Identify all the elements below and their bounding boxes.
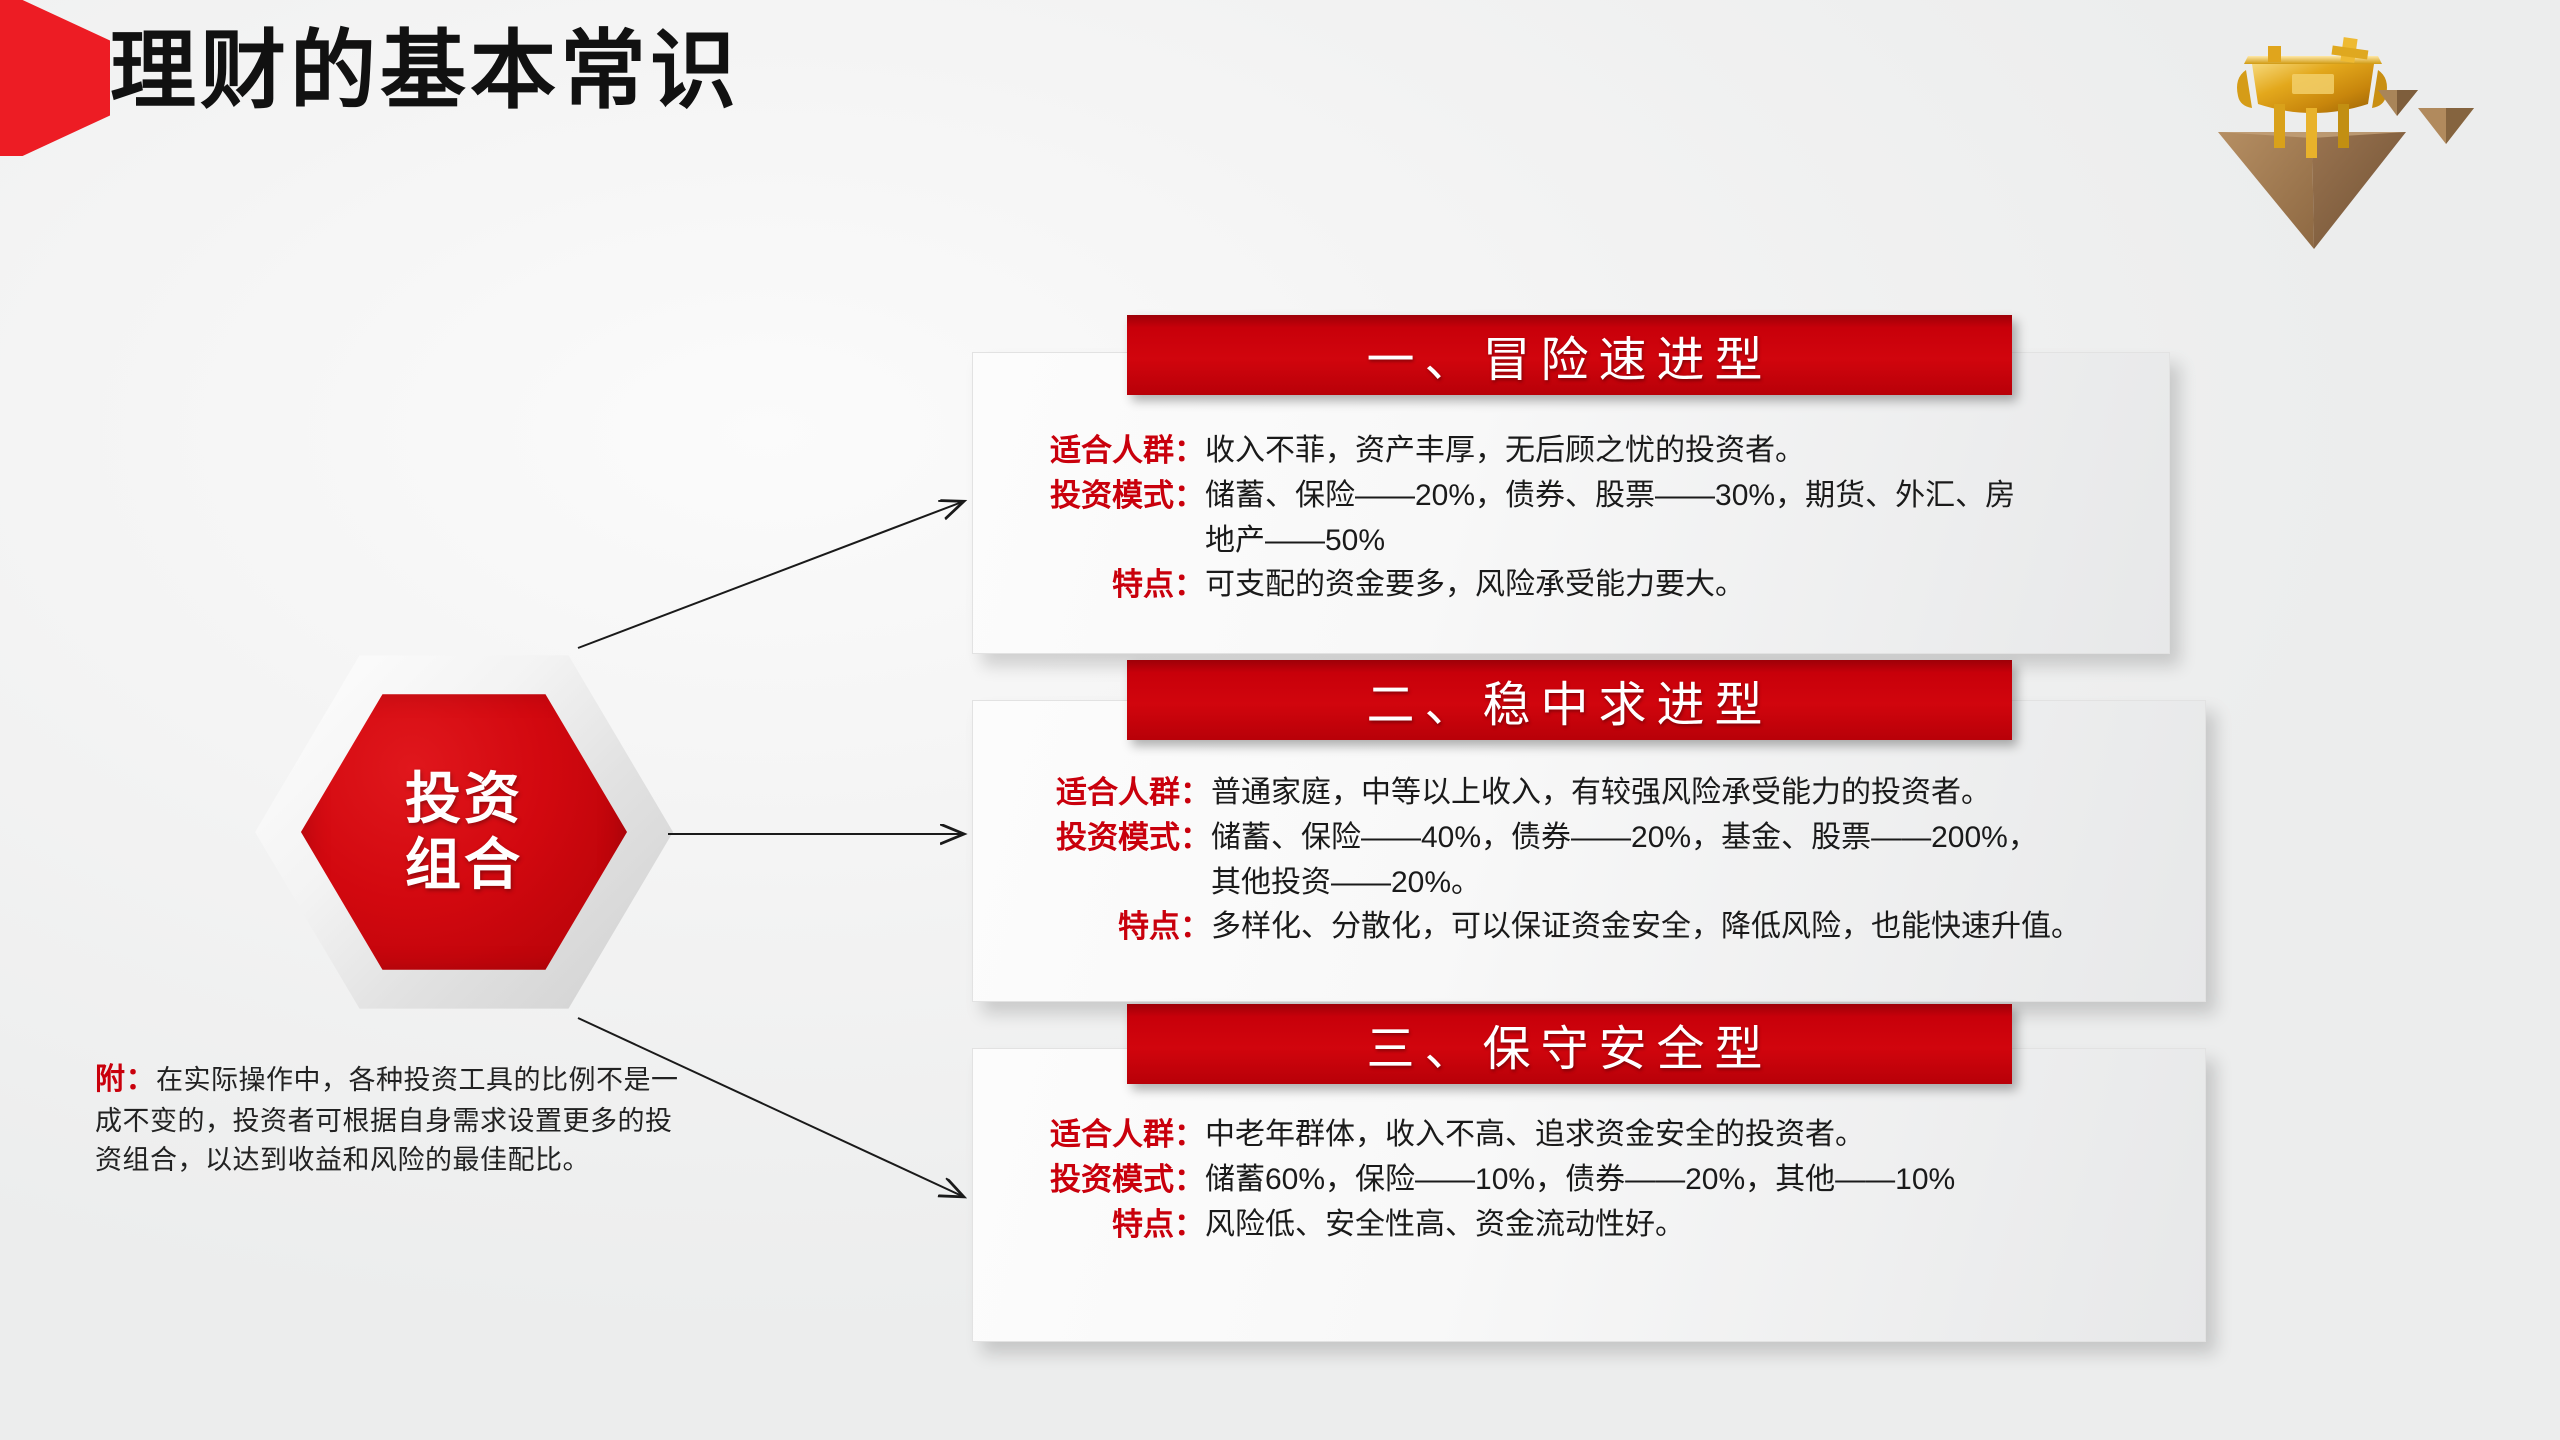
row-label: 投资模式：: [1030, 475, 1205, 518]
hub-hexagon: 投资 组合: [255, 648, 673, 1016]
card-conservative[interactable]: 三、保守安全型 适合人群： 中老年群体，收入不高、追求资金安全的投资者。 投资模…: [972, 1048, 2204, 1340]
footnote-text: 在实际操作中，各种投资工具的比例不是一成不变的，投资者可根据自身需求设置更多的投…: [95, 1065, 679, 1175]
card-row: 适合人群： 收入不菲，资产丰厚，无后顾之忧的投资者。: [1030, 430, 2138, 473]
card-row: 特点： 可支配的资金要多，风险承受能力要大。: [1030, 564, 2138, 607]
hub-label-line1: 投资: [405, 766, 523, 832]
hub-label-line2: 组合: [405, 832, 523, 898]
card-header-title: 三、保守安全型: [1366, 1009, 1772, 1079]
golden-ding-ornament: [2182, 4, 2512, 254]
row-value: 普通家庭，中等以上收入，有较强风险承受能力的投资者。: [1211, 772, 1991, 813]
card-content: 适合人群： 普通家庭，中等以上收入，有较强风险承受能力的投资者。 投资模式： 储…: [1036, 772, 2180, 949]
row-label: 投资模式：: [1030, 1159, 1205, 1202]
card-header: 一、冒险速进型: [1127, 315, 2012, 395]
footnote-tag: 附：: [95, 1063, 156, 1096]
card-row-continuation: 地产——50%: [1030, 520, 2138, 563]
card-row: 适合人群： 中老年群体，收入不高、追求资金安全的投资者。: [1030, 1114, 2180, 1157]
row-value: 储蓄、保险——20%，债券、股票——30%，期货、外汇、房: [1205, 475, 2015, 516]
row-value: 风险低、安全性高、资金流动性好。: [1205, 1204, 1685, 1245]
card-row: 投资模式： 储蓄、保险——40%，债券——20%，基金、股票——200%，: [1036, 817, 2180, 860]
hub-label: 投资 组合: [405, 766, 523, 898]
card-row: 投资模式： 储蓄、保险——20%，债券、股票——30%，期货、外汇、房: [1030, 475, 2138, 518]
row-continuation: 其他投资——20%。: [1211, 862, 1481, 903]
card-header-title: 二、稳中求进型: [1366, 665, 1772, 735]
corner-accent-badge: [0, 0, 110, 156]
page-title: 理财的基本常识: [110, 24, 740, 119]
card-row: 特点： 多样化、分散化，可以保证资金安全，降低风险，也能快速升值。: [1036, 906, 2180, 949]
card-header: 三、保守安全型: [1127, 1004, 2012, 1084]
row-value: 中老年群体，收入不高、追求资金安全的投资者。: [1205, 1114, 1865, 1155]
card-content: 适合人群： 中老年群体，收入不高、追求资金安全的投资者。 投资模式： 储蓄60%…: [1030, 1114, 2180, 1246]
card-row: 特点： 风险低、安全性高、资金流动性好。: [1030, 1204, 2180, 1247]
row-label: 适合人群：: [1030, 1114, 1205, 1157]
card-row-continuation: 其他投资——20%。: [1036, 862, 2180, 905]
row-value: 储蓄60%，保险——10%，债券——20%，其他——10%: [1205, 1159, 1955, 1200]
row-label: 适合人群：: [1030, 430, 1205, 473]
row-value: 储蓄、保险——40%，债券——20%，基金、股票——200%，: [1211, 817, 2038, 858]
row-label: 投资模式：: [1036, 817, 1211, 860]
card-row: 投资模式： 储蓄60%，保险——10%，债券——20%，其他——10%: [1030, 1159, 2180, 1202]
row-label: 特点：: [1030, 564, 1205, 607]
card-content: 适合人群： 收入不菲，资产丰厚，无后顾之忧的投资者。 投资模式： 储蓄、保险——…: [1030, 430, 2138, 607]
row-label: 适合人群：: [1036, 772, 1211, 815]
row-value: 多样化、分散化，可以保证资金安全，降低风险，也能快速升值。: [1211, 906, 2081, 947]
row-value: 收入不菲，资产丰厚，无后顾之忧的投资者。: [1205, 430, 1805, 471]
card-header-title: 一、冒险速进型: [1366, 320, 1772, 390]
card-header: 二、稳中求进型: [1127, 660, 2012, 740]
footnote: 附：在实际操作中，各种投资工具的比例不是一成不变的，投资者可根据自身需求设置更多…: [95, 1058, 695, 1180]
arrow-to-card-1: [578, 502, 962, 648]
row-value: 可支配的资金要多，风险承受能力要大。: [1205, 564, 1745, 605]
row-label: 特点：: [1030, 1204, 1205, 1247]
row-continuation: 地产——50%: [1205, 520, 1385, 561]
row-label: 特点：: [1036, 906, 1211, 949]
card-row: 适合人群： 普通家庭，中等以上收入，有较强风险承受能力的投资者。: [1036, 772, 2180, 815]
card-steady-growth[interactable]: 二、稳中求进型 适合人群： 普通家庭，中等以上收入，有较强风险承受能力的投资者。…: [972, 700, 2204, 1000]
card-adventurous[interactable]: 一、冒险速进型 适合人群： 收入不菲，资产丰厚，无后顾之忧的投资者。 投资模式：…: [972, 352, 2168, 652]
